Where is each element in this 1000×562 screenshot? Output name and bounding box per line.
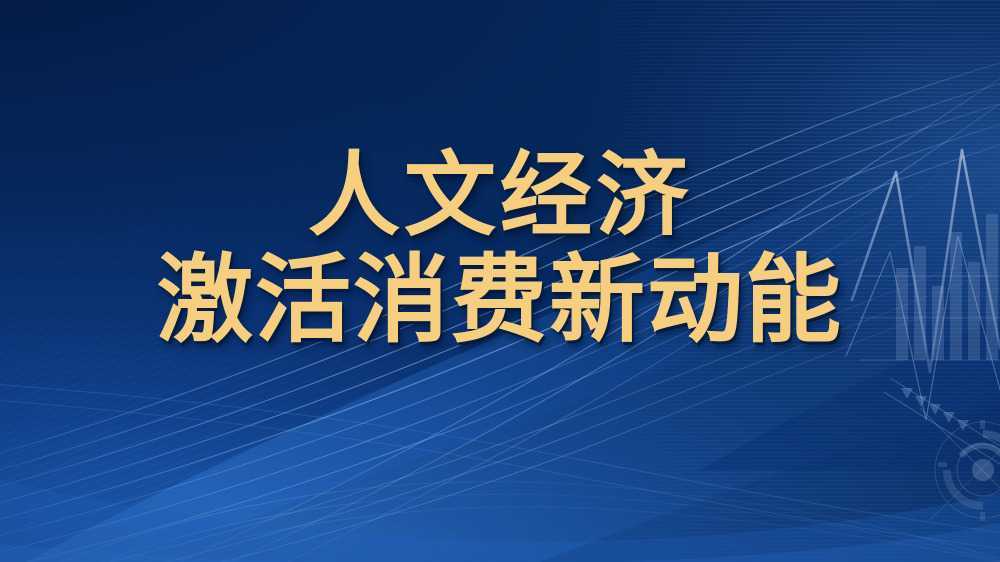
headline-line-2: 激活消费新动能 [0,252,1000,350]
headline-line-1: 人文经济 [0,150,1000,244]
poster-canvas: 人文经济 激活消费新动能 [0,0,1000,562]
headline-block: 人文经济 激活消费新动能 [0,150,1000,350]
triangle-markers [901,388,969,431]
tech-circle-ticks [938,420,1000,521]
tech-circle [920,408,1000,520]
